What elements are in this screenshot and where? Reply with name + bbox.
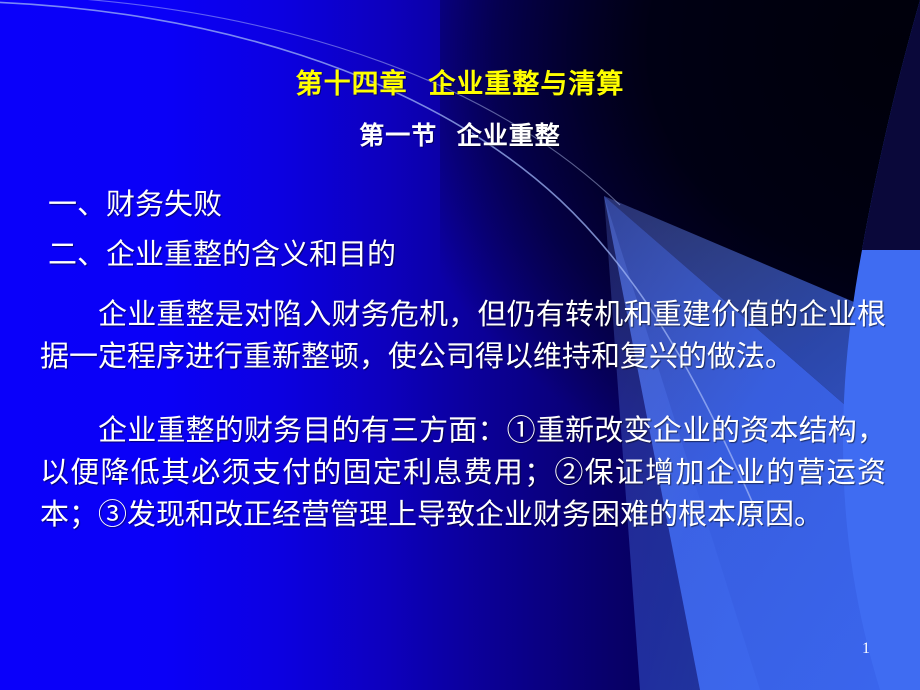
- section-title: 第一节 企业重整: [0, 120, 920, 152]
- body-heading-2: 二、企业重整的含义和目的: [48, 230, 886, 280]
- chapter-title: 第十四章 企业重整与清算: [0, 68, 920, 102]
- body-paragraph-2: 企业重整的财务目的有三方面：①重新改变企业的资本结构，以便降低其必须支付的固定利…: [40, 410, 886, 536]
- body-paragraph-1: 企业重整是对陷入财务危机，但仍有转机和重建价值的企业根据一定程序进行重新整顿，使…: [40, 294, 886, 378]
- page-number: 1: [862, 640, 870, 658]
- body-heading-1: 一、财务失败: [48, 180, 886, 230]
- slide-title-block: 第十四章 企业重整与清算 第一节 企业重整: [0, 68, 920, 152]
- slide-body: 一、财务失败 二、企业重整的含义和目的 企业重整是对陷入财务危机，但仍有转机和重…: [0, 180, 920, 536]
- slide-canvas: 第十四章 企业重整与清算 第一节 企业重整 一、财务失败 二、企业重整的含义和目…: [0, 0, 920, 690]
